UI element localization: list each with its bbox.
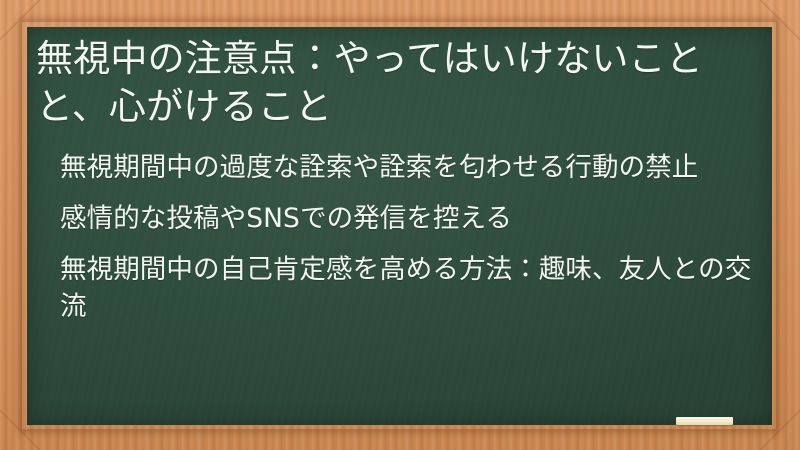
bullet-list: 無視期間中の過度な詮索や詮索を匂わせる行動の禁止 感情的な投稿やSNSでの発信を…	[60, 149, 760, 325]
slide-content: 無視中の注意点：やってはいけないことと、心がけること 無視期間中の過度な詮索や詮…	[27, 27, 772, 425]
slide-title: 無視中の注意点：やってはいけないことと、心がけること	[36, 35, 756, 131]
chalkboard-surface: 無視中の注意点：やってはいけないことと、心がけること 無視期間中の過度な詮索や詮…	[27, 27, 772, 425]
chalk-stick-icon	[676, 417, 733, 425]
list-item: 無視期間中の自己肯定感を高める方法：趣味、友人との交流	[60, 251, 760, 325]
list-item: 無視期間中の過度な詮索や詮索を匂わせる行動の禁止	[60, 149, 760, 186]
list-item: 感情的な投稿やSNSでの発信を控える	[60, 200, 760, 237]
chalkboard-slide: 無視中の注意点：やってはいけないことと、心がけること 無視期間中の過度な詮索や詮…	[0, 0, 800, 450]
